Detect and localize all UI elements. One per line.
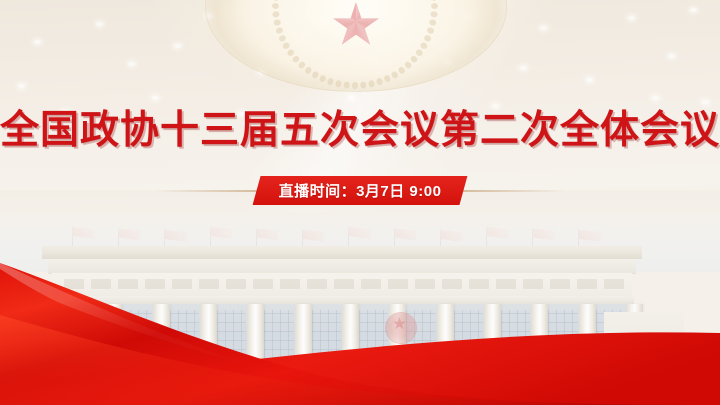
- ceiling-light-dot: [540, 26, 547, 30]
- china-flag-icon: [533, 229, 555, 241]
- ceiling-light-dot: [128, 62, 135, 66]
- china-flag-icon: [579, 230, 601, 242]
- china-flag-icon: [395, 229, 417, 241]
- china-flag-icon: [73, 227, 95, 239]
- china-flag-icon: [165, 230, 187, 242]
- china-flag-icon: [349, 227, 371, 239]
- ceiling-light-dot: [96, 22, 103, 26]
- china-flag-icon: [119, 229, 141, 241]
- ceiling-light-dot: [628, 16, 635, 20]
- china-flag-icon: [487, 227, 509, 239]
- ceiling-light-dot: [34, 40, 41, 44]
- ceiling-light-dot: [690, 8, 697, 12]
- ceiling-light-dot: [18, 84, 25, 88]
- red-silk-ribbon: [0, 255, 720, 405]
- ceiling-light-dot: [586, 78, 593, 82]
- ceiling-light-dot: [668, 54, 675, 58]
- ceiling-light-dot: [174, 44, 181, 48]
- broadcast-time-badge: 直播时间：3月7日 9:00: [253, 176, 468, 205]
- china-flag-icon: [257, 229, 279, 241]
- china-flag-icon: [441, 230, 463, 242]
- page-title: 全国政协十三届五次会议第二次全体会议: [0, 99, 720, 155]
- broadcast-time-label: 直播时间：3月7日 9:00: [279, 180, 442, 201]
- broadcast-time-row: 直播时间：3月7日 9:00: [0, 176, 720, 206]
- ceiling-light-dot: [520, 66, 527, 70]
- live-broadcast-poster: 全国政协十三届五次会议第二次全体会议 直播时间：3月7日 9:00: [0, 0, 720, 405]
- china-flag-icon: [211, 227, 233, 239]
- china-flag-icon: [303, 230, 325, 242]
